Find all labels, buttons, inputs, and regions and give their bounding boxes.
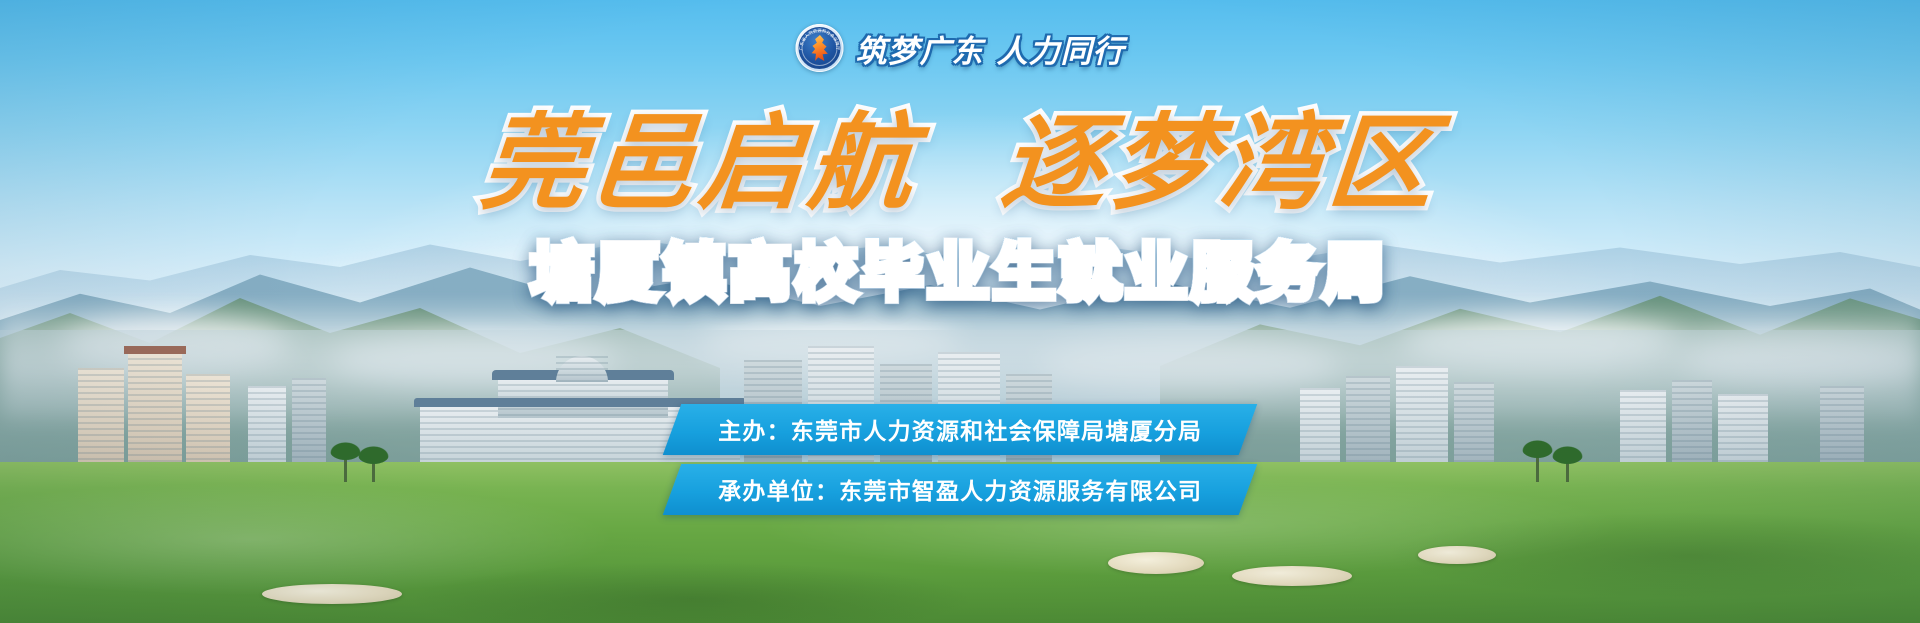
- resort-dome: [556, 356, 608, 382]
- building-roof: [124, 346, 186, 354]
- main-title-segment-1: 莞邑启航: [477, 108, 923, 218]
- svg-text:广东省人力资源和社会保障厅: 广东省人力资源和社会保障厅: [797, 27, 841, 51]
- promotional-banner: 广东省人力资源和社会保障厅 筑梦广东 人力同行 莞邑启航 逐梦湾区 塘厦镇高校毕…: [0, 0, 1920, 623]
- sand-bunker: [262, 584, 402, 604]
- credits-ribbons: 主办：东莞市人力资源和社会保障局塘厦分局 承办单位：东莞市智盈人力资源服务有限公…: [0, 404, 1920, 515]
- subtitle-wrapper: 塘厦镇高校毕业生就业服务周 塘厦镇高校毕业生就业服务周: [531, 218, 1389, 312]
- logo-word-renli-tongxing: 人力同行: [997, 26, 1125, 71]
- logo-lockup: 广东省人力资源和社会保障厅 筑梦广东 人力同行: [796, 24, 1125, 72]
- co-organizer-text: 承办单位：东莞市智盈人力资源服务有限公司: [718, 472, 1202, 506]
- organizer-ribbon: 主办：东莞市人力资源和社会保障局塘厦分局: [663, 404, 1258, 455]
- logo-word-zhumeng-guangdong: 筑梦广东: [856, 26, 984, 71]
- organizer-text: 主办：东莞市人力资源和社会保障局塘厦分局: [718, 412, 1202, 446]
- title-block: 莞邑启航 逐梦湾区 塘厦镇高校毕业生就业服务周 塘厦镇高校毕业生就业服务周: [0, 108, 1920, 312]
- sand-bunker: [1108, 552, 1204, 574]
- co-organizer-ribbon: 承办单位：东莞市智盈人力资源服务有限公司: [663, 464, 1258, 515]
- main-title-segment-2: 逐梦湾区: [997, 108, 1443, 218]
- guangdong-hr-emblem-icon: 广东省人力资源和社会保障厅: [796, 24, 844, 72]
- event-subtitle: 塘厦镇高校毕业生就业服务周: [531, 222, 1389, 312]
- logo-wordmark: 筑梦广东 人力同行: [856, 26, 1125, 71]
- emblem-arc-text: 广东省人力资源和社会保障厅: [796, 24, 844, 72]
- sand-bunker: [1232, 566, 1352, 586]
- main-title: 莞邑启航 逐梦湾区: [477, 108, 1443, 218]
- sand-bunker: [1418, 546, 1496, 564]
